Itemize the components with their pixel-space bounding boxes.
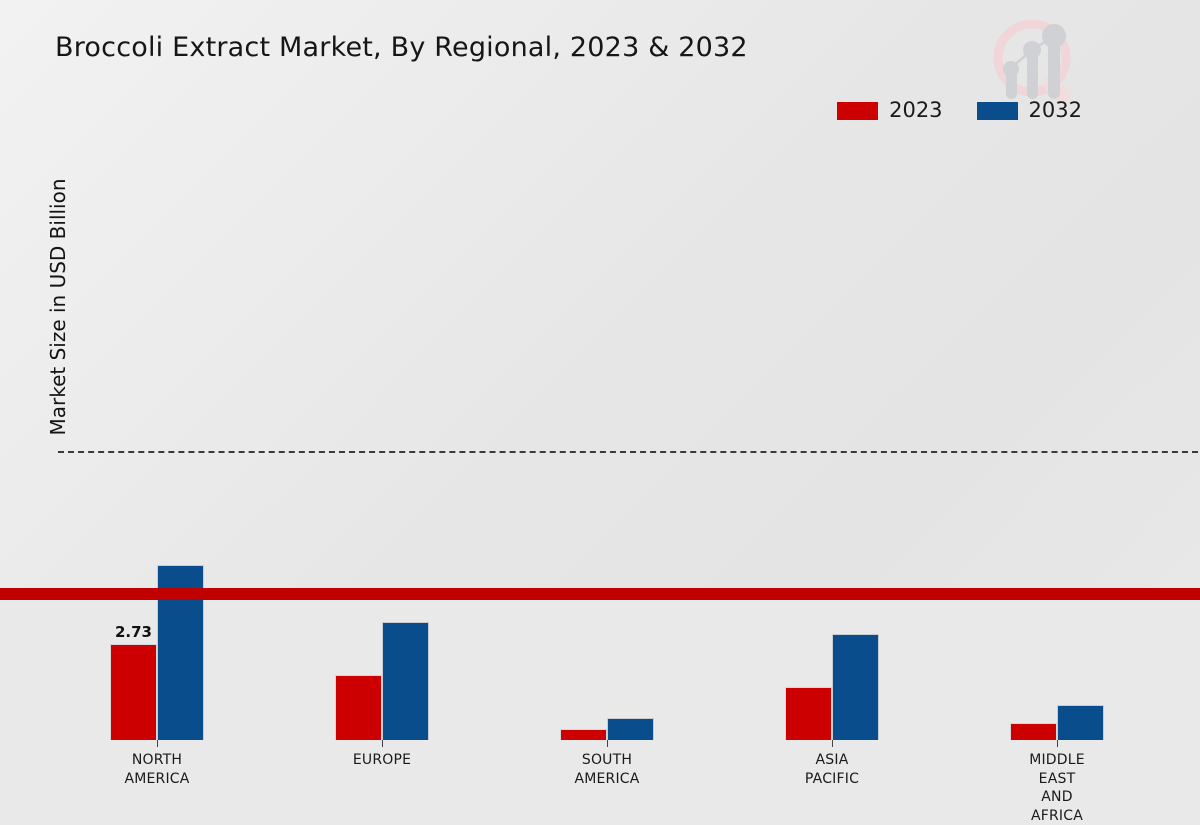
bar-group-asia-pacific: ASIA PACIFIC [785,289,879,600]
bar-group-europe: EUROPE [335,289,429,600]
bar-south-america-2032[interactable] [607,718,654,740]
category-label-north-america: NORTH AMERICA [72,751,242,788]
footer-accent-bar [0,588,1200,600]
plot-area: 2.73 NORTH AMERICA EUROPE [58,0,1148,600]
axis-tick [157,740,158,747]
bar-asia-pacific-2032[interactable] [832,634,879,740]
bar-group-north-america: 2.73 NORTH AMERICA [110,289,204,600]
bar-north-america-2023[interactable] [110,644,157,740]
bar-south-america-2023[interactable] [560,729,607,740]
bar-middle-east-and-africa-2023[interactable] [1010,723,1057,740]
category-label-south-america: SOUTH AMERICA [522,751,692,788]
bar-group-south-america: SOUTH AMERICA [560,289,654,600]
axis-tick [832,740,833,747]
axis-tick [382,740,383,747]
axis-tick [607,740,608,747]
bar-middle-east-and-africa-2032[interactable] [1057,705,1104,740]
category-label-asia-pacific: ASIA PACIFIC [747,751,917,788]
bar-asia-pacific-2023[interactable] [785,687,832,740]
chart-figure: Broccoli Extract Market, By Regional, 20… [0,0,1200,600]
bar-value-north-america-2023: 2.73 [110,623,157,641]
bar-europe-2023[interactable] [335,675,382,740]
category-label-europe: EUROPE [297,751,467,770]
category-label-middle-east-and-africa: MIDDLE EAST AND AFRICA [972,751,1142,825]
axis-tick [1057,740,1058,747]
bar-europe-2032[interactable] [382,622,429,740]
bar-group-middle-east-and-africa: MIDDLE EAST AND AFRICA [1010,289,1104,600]
